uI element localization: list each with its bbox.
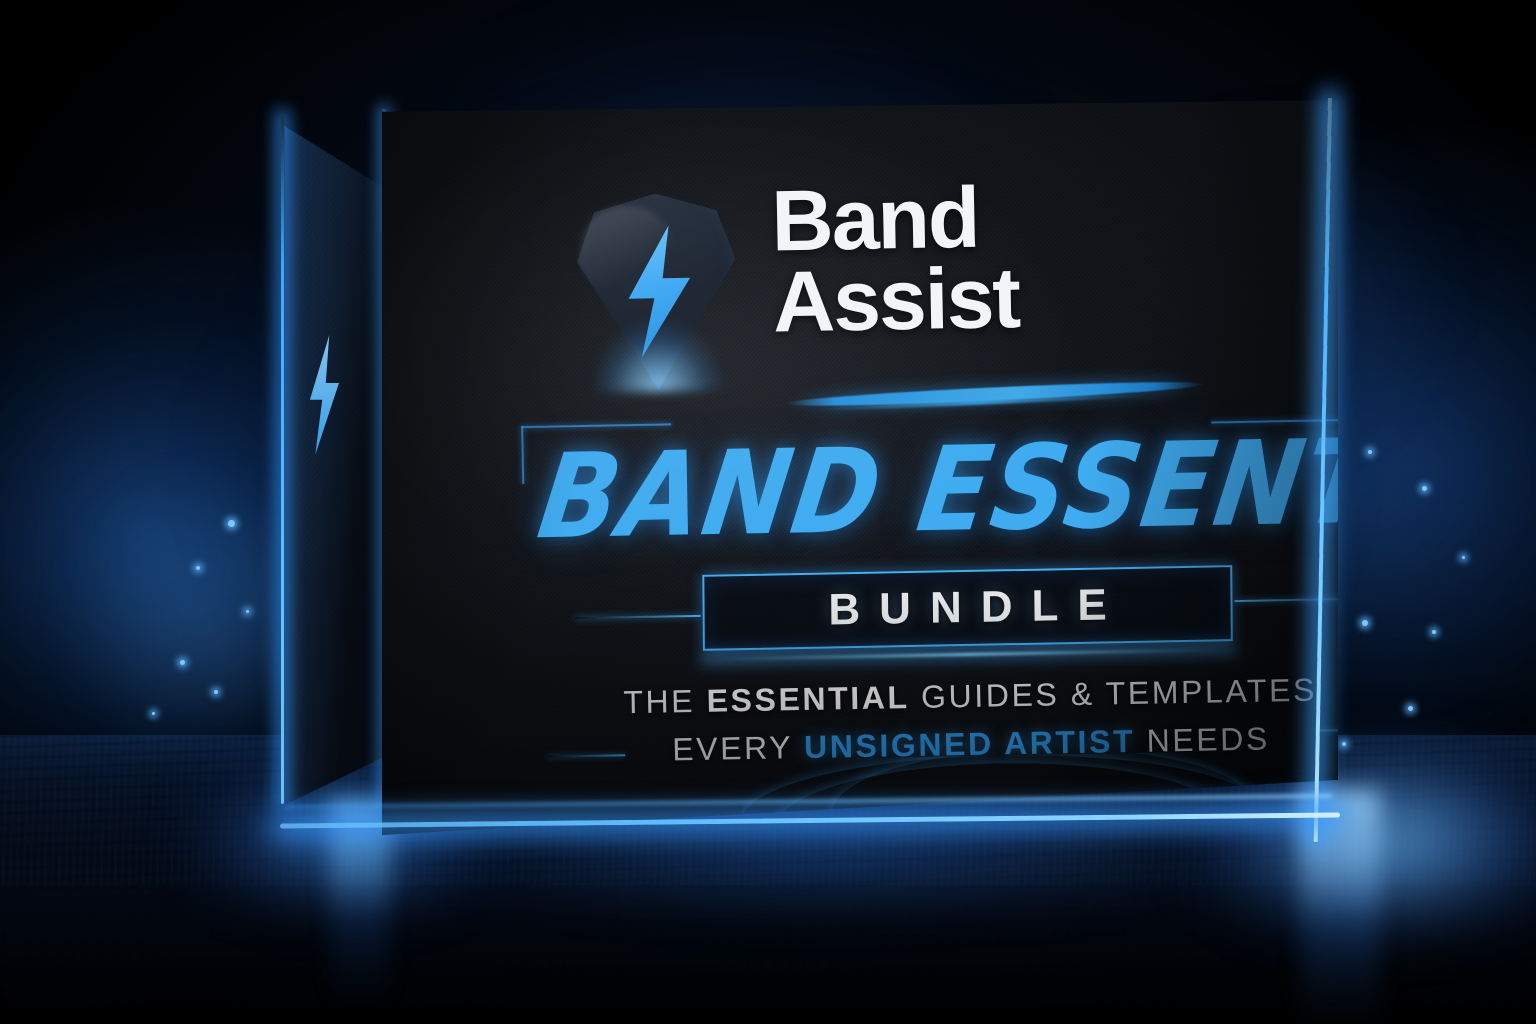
box-front-face: Band Assist BAND ESSENTIALS BUNDLE [382, 100, 1338, 835]
box-side-panel [278, 105, 386, 805]
product-render-scene: Band Assist BAND ESSENTIALS BUNDLE [0, 0, 1536, 1024]
ground-depth-blur [0, 885, 1536, 1024]
box-left-edge-glow [281, 114, 284, 804]
side-shading [278, 105, 386, 805]
front-face-shading [382, 100, 1338, 835]
product-box: Band Assist BAND ESSENTIALS BUNDLE [278, 100, 1338, 840]
